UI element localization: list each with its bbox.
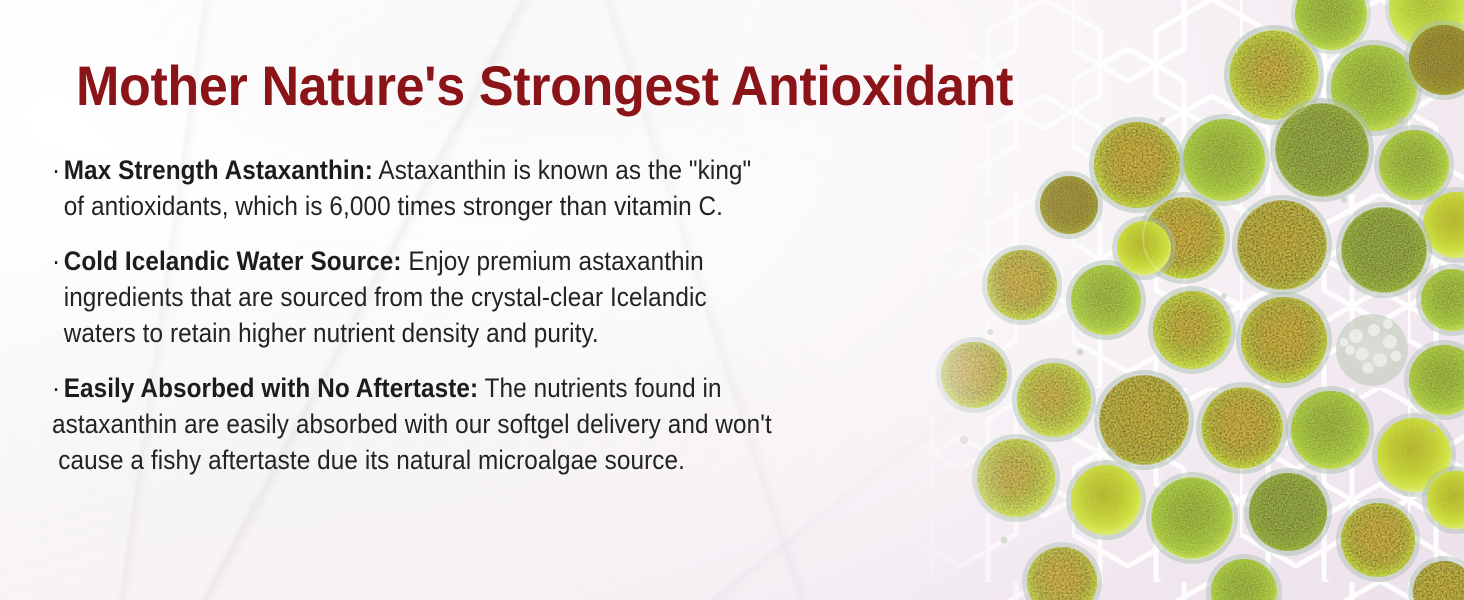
bullet-line-3: waters to retain higher nutrient density…: [52, 315, 871, 351]
page-title: Mother Nature's Strongest Antioxidant: [76, 57, 1013, 115]
bullet-marker-icon: ·: [52, 370, 64, 406]
bullet-line-1: ·Easily Absorbed with No Aftertaste: The…: [52, 370, 871, 406]
list-item: ·Max Strength Astaxanthin: Astaxanthin i…: [52, 152, 962, 224]
bullet-marker-icon: ·: [52, 243, 64, 279]
list-item: ·Easily Absorbed with No Aftertaste: The…: [52, 370, 962, 478]
bullet-line-3: cause a fishy aftertaste due its natural…: [52, 442, 871, 478]
bullet-line-2: ingredients that are sourced from the cr…: [52, 279, 871, 315]
bullet-lead-label: Max Strength Astaxanthin:: [64, 155, 373, 185]
bullet-body-text: The nutrients found in: [478, 373, 721, 403]
product-feature-banner: Mother Nature's Strongest Antioxidant ·M…: [0, 0, 1464, 600]
bullet-marker-icon: ·: [52, 152, 64, 188]
bullet-lead-label: Cold Icelandic Water Source:: [64, 246, 402, 276]
list-item: ·Cold Icelandic Water Source: Enjoy prem…: [52, 243, 962, 351]
bullet-body-text: Enjoy premium astaxanthin: [402, 246, 704, 276]
bullet-line-1: ·Cold Icelandic Water Source: Enjoy prem…: [52, 243, 871, 279]
bullet-lead-label: Easily Absorbed with No Aftertaste:: [64, 373, 479, 403]
bullet-body-text: Astaxanthin is known as the "king": [373, 155, 751, 185]
bullet-line-2: of antioxidants, which is 6,000 times st…: [52, 188, 871, 224]
feature-bullet-list: ·Max Strength Astaxanthin: Astaxanthin i…: [52, 152, 962, 478]
text-content-column: Mother Nature's Strongest Antioxidant ·M…: [0, 0, 1000, 600]
bullet-line-2: astaxanthin are easily absorbed with our…: [52, 406, 871, 442]
bullet-line-1: ·Max Strength Astaxanthin: Astaxanthin i…: [52, 152, 871, 188]
